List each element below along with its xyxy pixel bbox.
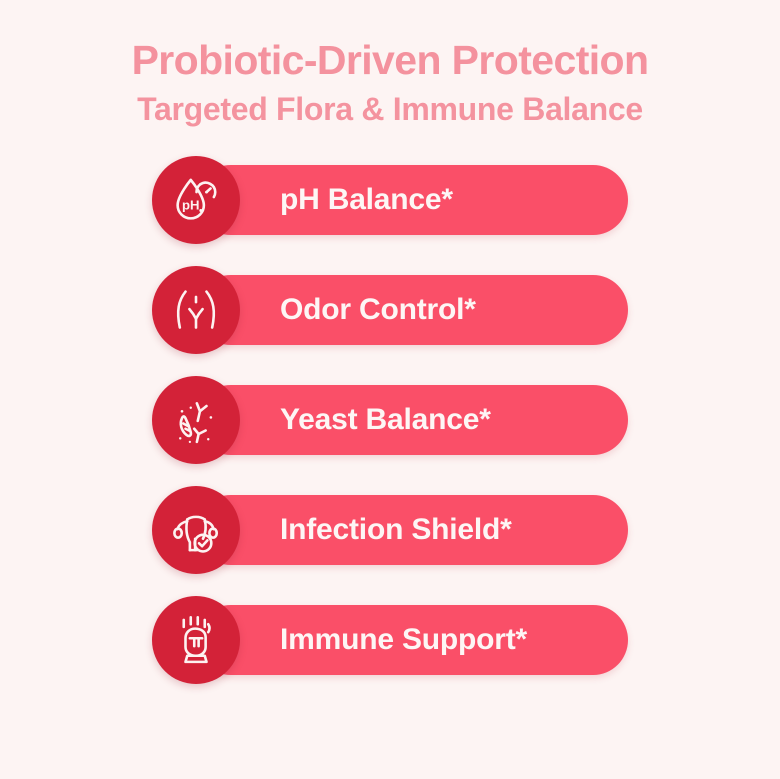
raised-fist-icon: [152, 596, 240, 684]
ph-droplet-gauge-icon: pH: [152, 156, 240, 244]
page-subtitle: Targeted Flora & Immune Balance: [0, 90, 780, 128]
uterus-check-icon: [152, 486, 240, 574]
feature-label: Odor Control*: [280, 295, 476, 325]
list-item[interactable]: Immune Support*: [0, 596, 780, 684]
infographic-root: Probiotic-Driven Protection Targeted Flo…: [0, 0, 780, 779]
page-title: Probiotic-Driven Protection: [0, 38, 780, 84]
feature-label: Infection Shield*: [280, 515, 512, 545]
feature-pill[interactable]: pH Balance*: [196, 165, 628, 235]
list-item[interactable]: Infection Shield*: [0, 486, 780, 574]
feature-pill[interactable]: Yeast Balance*: [196, 385, 628, 455]
feature-pill[interactable]: Immune Support*: [196, 605, 628, 675]
feature-pill[interactable]: Infection Shield*: [196, 495, 628, 565]
list-item[interactable]: Yeast Balance*: [0, 376, 780, 464]
feature-pill[interactable]: Odor Control*: [196, 275, 628, 345]
heading-block: Probiotic-Driven Protection Targeted Flo…: [0, 38, 780, 128]
svg-text:pH: pH: [182, 198, 199, 213]
feature-label: pH Balance*: [280, 185, 453, 215]
feature-label: Immune Support*: [280, 625, 527, 655]
feature-list: pH Balance* pH Odor Control*: [0, 156, 780, 684]
feature-label: Yeast Balance*: [280, 405, 491, 435]
vulva-outline-icon: [152, 266, 240, 354]
microbe-antibody-icon: [152, 376, 240, 464]
list-item[interactable]: Odor Control*: [0, 266, 780, 354]
list-item[interactable]: pH Balance* pH: [0, 156, 780, 244]
